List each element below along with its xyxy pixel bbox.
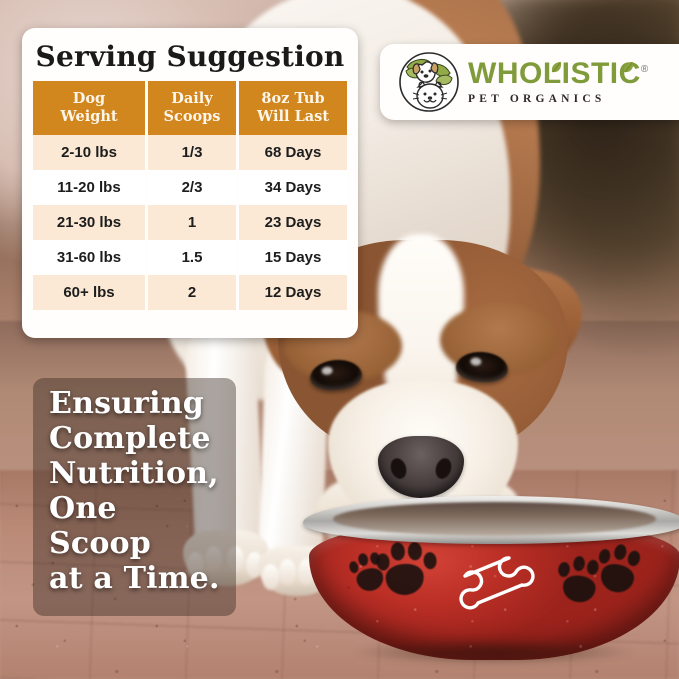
header-line: Scoops (164, 108, 221, 125)
cell-tub-duration: 15 Days (239, 240, 347, 275)
header-line: 8oz Tub (261, 90, 324, 107)
page-title: Serving Suggestion (22, 28, 358, 81)
cell-dog-weight: 60+ lbs (33, 275, 145, 310)
table-row: 60+ lbs 2 12 Days (33, 275, 347, 310)
table-row: 2-10 lbs 1/3 68 Days (33, 135, 347, 170)
table-header-row: Dog Weight Daily Scoops 8oz Tub Will Las… (33, 81, 347, 134)
table-row: 11-20 lbs 2/3 34 Days (33, 170, 347, 205)
cell-daily-scoops: 2 (148, 275, 236, 310)
tagline-overlay: Ensuring Complete Nutrition, One Scoop a… (33, 378, 236, 616)
header-line: Weight (60, 108, 117, 125)
cell-tub-duration: 34 Days (239, 170, 347, 205)
tagline-line: Ensuring (49, 386, 224, 421)
column-header-dog-weight: Dog Weight (33, 81, 145, 134)
tagline-line: Complete (49, 421, 224, 456)
cell-tub-duration: 23 Days (239, 205, 347, 240)
leaf-icon (550, 52, 563, 67)
bowl-interior (333, 502, 656, 536)
serving-table: Dog Weight Daily Scoops 8oz Tub Will Las… (30, 81, 350, 309)
serving-suggestion-card: Serving Suggestion Dog Weight Daily Scoo… (22, 28, 358, 338)
leaf-icon (622, 52, 635, 67)
cell-dog-weight: 11-20 lbs (33, 170, 145, 205)
column-header-tub-duration: 8oz Tub Will Last (239, 81, 347, 134)
table-row: 31-60 lbs 1.5 15 Days (33, 240, 347, 275)
table-row: 21-30 lbs 1 23 Days (33, 205, 347, 240)
header-line: Dog (73, 90, 105, 107)
brand-badge: WHOLISTIC® PET ORGANICS (380, 44, 679, 120)
header-line: Daily (171, 90, 212, 107)
brand-tagline: PET ORGANICS (468, 94, 649, 106)
cell-dog-weight: 21-30 lbs (33, 205, 145, 240)
header-line: Will Last (257, 108, 329, 125)
column-header-daily-scoops: Daily Scoops (148, 81, 236, 134)
registered-trademark: ® (641, 64, 649, 75)
dog-cat-leaf-logo-icon (398, 51, 460, 113)
brand-name: WHOLISTIC® (468, 59, 649, 89)
promo-image: Serving Suggestion Dog Weight Daily Scoo… (0, 0, 679, 679)
cell-daily-scoops: 1/3 (148, 135, 236, 170)
cell-dog-weight: 2-10 lbs (33, 135, 145, 170)
dog-bowl (303, 496, 679, 661)
bowl-bone-icon (453, 556, 537, 618)
tagline-line: at a Time. (49, 561, 224, 596)
bowl-ground-shadow (303, 638, 679, 672)
tagline-line: One Scoop (49, 491, 224, 561)
brand-wordmark: WHOLISTIC® PET ORGANICS (468, 59, 649, 106)
cell-dog-weight: 31-60 lbs (33, 240, 145, 275)
cell-tub-duration: 12 Days (239, 275, 347, 310)
cell-daily-scoops: 1.5 (148, 240, 236, 275)
cell-daily-scoops: 1 (148, 205, 236, 240)
cell-tub-duration: 68 Days (239, 135, 347, 170)
cell-daily-scoops: 2/3 (148, 170, 236, 205)
tagline-line: Nutrition, (49, 456, 224, 491)
